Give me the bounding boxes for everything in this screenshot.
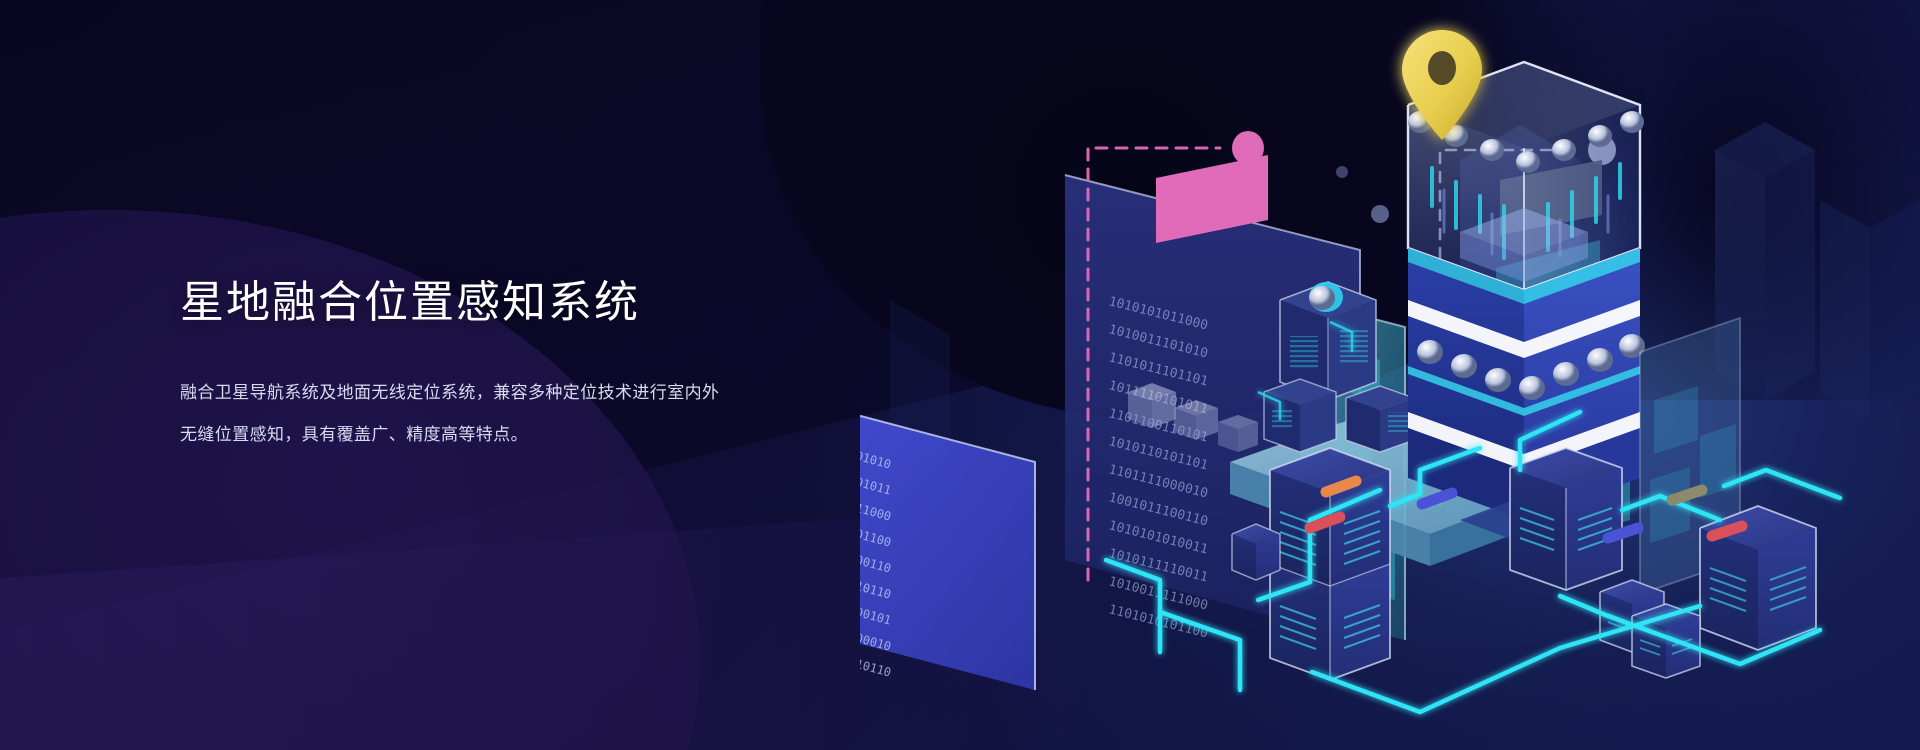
hero-description-line-1: 融合卫星导航系统及地面无线定位系统，兼容多种定位技术进行室内外 <box>180 372 840 414</box>
hero-copy-block: 星地融合位置感知系统 融合卫星导航系统及地面无线定位系统，兼容多种定位技术进行室… <box>180 275 880 456</box>
satellite-dish-icon <box>1309 282 1343 312</box>
binary-data-panel-front: 1010101010 1010101011 1011111000 1010101… <box>860 400 1035 690</box>
server-rack-middle <box>1510 448 1622 590</box>
server-cube-small-c <box>1232 524 1280 580</box>
hero-banner: 1010101011000 1010011101010 110101110110… <box>0 0 1920 750</box>
server-cube-right <box>1700 506 1816 650</box>
server-rack-left <box>1270 448 1390 680</box>
page-title: 星地融合位置感知系统 <box>180 275 880 330</box>
platform-cube-b <box>1264 379 1336 452</box>
hero-description-line-2: 无缝位置感知，具有覆盖广、精度高等特点。 <box>180 414 840 456</box>
isometric-city-illustration: 1010101011000 1010011101010 110101110110… <box>860 0 1920 750</box>
platform-cube-c <box>1346 386 1414 452</box>
ambient-nodes <box>1336 166 1389 223</box>
hero-description: 融合卫星导航系统及地面无线定位系统，兼容多种定位技术进行室内外 无缝位置感知，具… <box>180 372 840 456</box>
